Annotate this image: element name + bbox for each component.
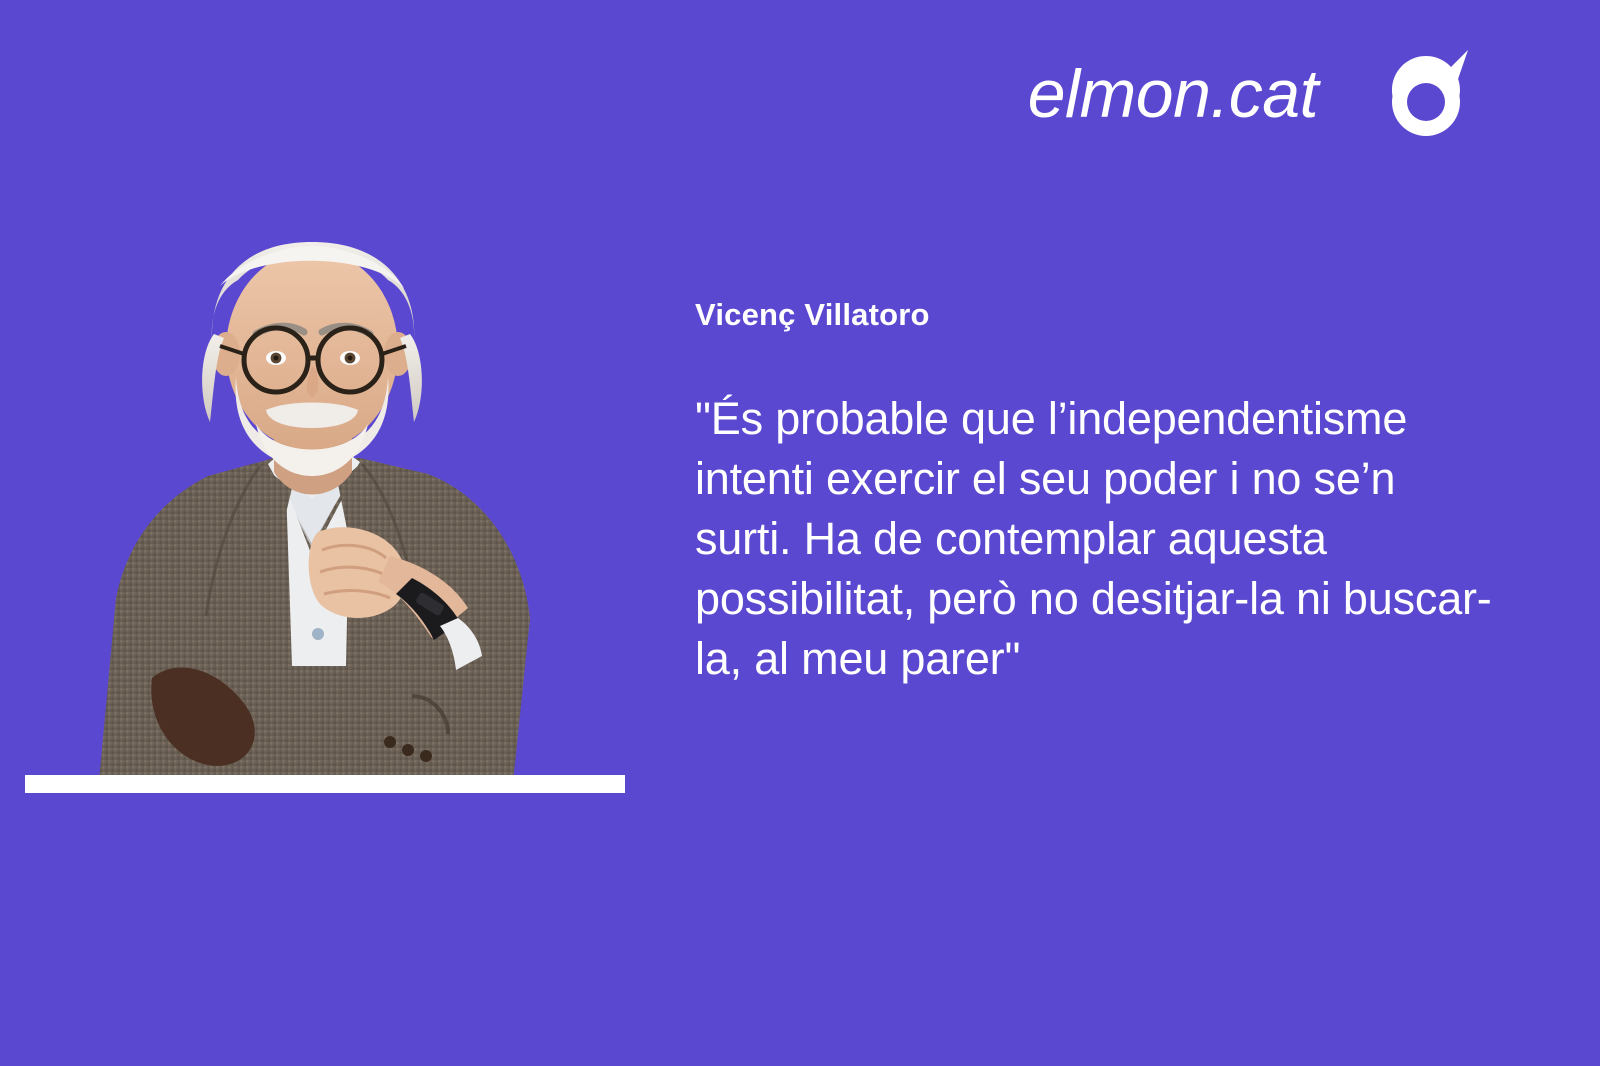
quote-block: Vicenç Villatoro "És probable que l’inde… (695, 296, 1495, 689)
portrait-zone (0, 0, 660, 1066)
photo-underline-rule (25, 775, 625, 793)
quote-text: "És probable que l’independentisme inten… (695, 389, 1495, 689)
speaker-portrait (60, 226, 560, 792)
quote-card: elmon.cat (0, 0, 1600, 1066)
elmon-circle-mark-icon (1380, 44, 1472, 144)
brand-lockup: elmon.cat (1028, 44, 1472, 144)
speaker-name: Vicenç Villatoro (695, 296, 1495, 333)
brand-wordmark: elmon.cat (1028, 60, 1318, 128)
